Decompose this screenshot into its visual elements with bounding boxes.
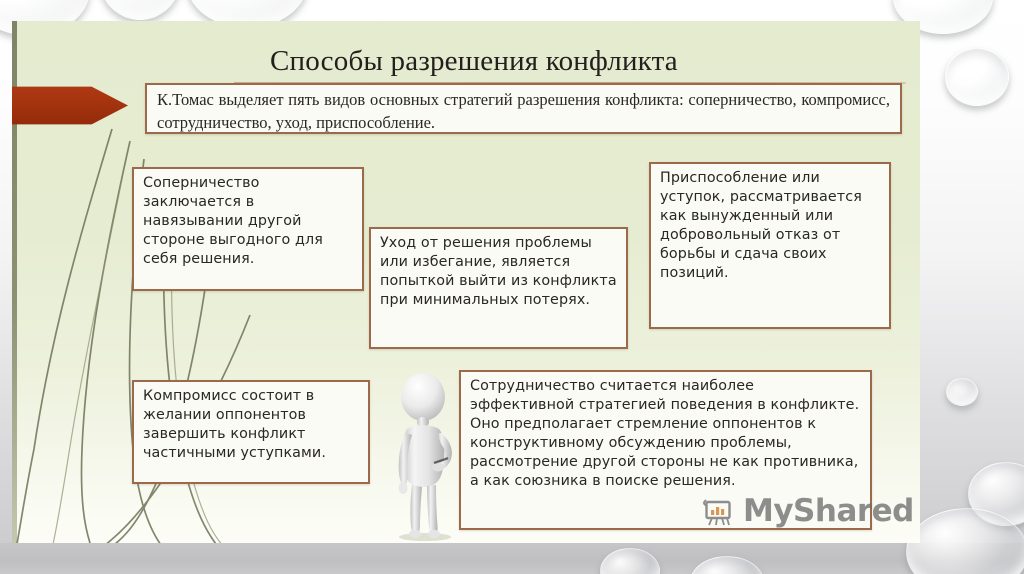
water-drop-icon — [945, 48, 1009, 106]
bar-chart-projector-icon — [702, 494, 736, 528]
strategy-box-accommodation: Приспособление или уступок, рассматривае… — [649, 162, 891, 329]
presentation-slide: Способы разрешения конфликта К.Томас выд… — [12, 21, 920, 543]
strategy-text-cooperation: Сотрудничество считается наиболее эффект… — [461, 372, 870, 497]
page-title: Способы разрешения конфликта — [270, 45, 678, 78]
strategy-box-compromise: Компромисс состоит в желании оппонентов … — [132, 380, 370, 484]
watermark: MyShared — [702, 493, 914, 529]
watermark-text: MyShared — [743, 493, 914, 529]
strategy-box-avoidance: Уход от решения проблемы или избегание, … — [369, 227, 628, 349]
intro-text-box: К.Томас выделяет пять видов основных стр… — [145, 83, 902, 134]
strategy-box-rivalry: Соперничество заключается в навязывании … — [132, 167, 364, 291]
strategy-text-rivalry: Соперничество заключается в навязывании … — [134, 169, 362, 275]
water-drop-icon — [946, 378, 978, 406]
strategy-text-compromise: Компромисс состоит в желании оппонентов … — [134, 382, 368, 469]
slide-viewer: Способы разрешения конфликта К.Томас выд… — [0, 0, 1024, 574]
white-3d-mannequin-figure — [377, 373, 472, 541]
red-right-arrow-icon — [12, 83, 128, 128]
strategy-text-accommodation: Приспособление или уступок, рассматривае… — [651, 164, 889, 289]
strategy-text-avoidance: Уход от решения проблемы или избегание, … — [371, 229, 626, 316]
intro-text: К.Томас выделяет пять видов основных стр… — [147, 85, 900, 139]
background-bottom-band — [0, 543, 1024, 574]
